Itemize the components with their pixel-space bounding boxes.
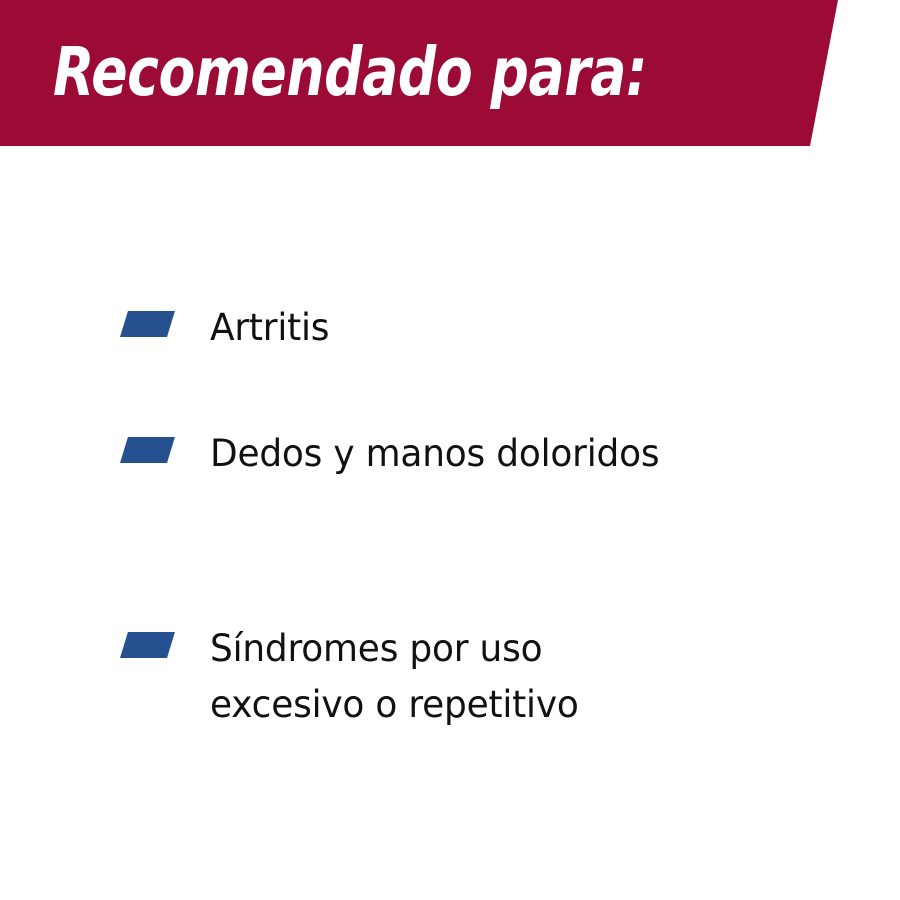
list-item: Síndromes por uso excesivo o repetitivo [120, 621, 590, 733]
list-item: Artritis [120, 300, 333, 356]
parallelogram-bullet-icon [120, 632, 175, 658]
parallelogram-bullet-icon [120, 311, 175, 337]
parallelogram-bullet-icon [120, 437, 175, 463]
list-item: Dedos y manos doloridos [120, 426, 673, 482]
list-item-label: Síndromes por uso excesivo o repetitivo [210, 621, 579, 733]
recommended-for-list: Artritis Dedos y manos doloridos Síndrom… [0, 0, 900, 900]
list-item-label: Artritis [210, 300, 329, 356]
list-item-label: Dedos y manos doloridos [210, 426, 659, 482]
